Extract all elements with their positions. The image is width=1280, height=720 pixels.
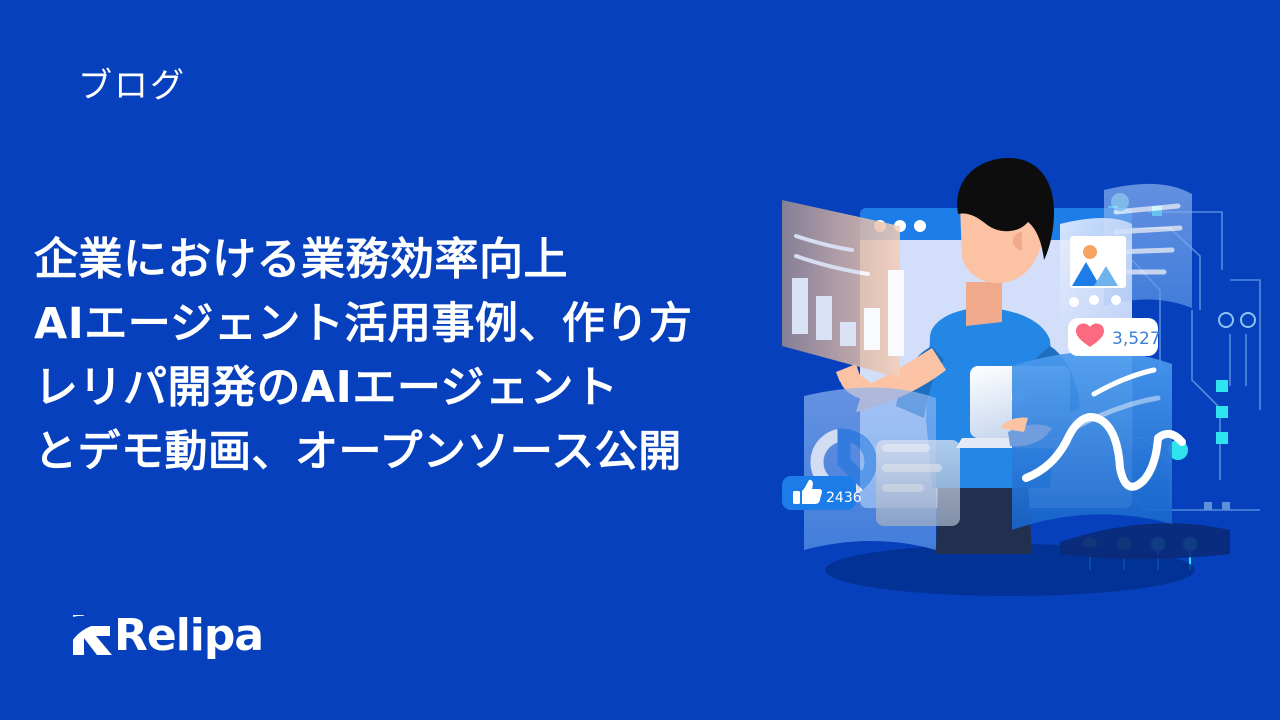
page-title: 企業における業務効率向上 AIエージェント活用事例、作り方 レリパ開発のAIエー… <box>34 228 804 484</box>
browser-dot-3 <box>914 220 926 232</box>
heart-badge-count: 3,527 <box>1112 329 1161 349</box>
floor-shadow-right <box>1060 523 1230 559</box>
relipa-r-mark-icon <box>70 611 116 659</box>
relipa-logo[interactable]: Relipa <box>70 607 263 663</box>
title-line-4: とデモ動画、オープンソース公開 <box>34 420 804 484</box>
heart-badge[interactable]: 3,527 <box>1068 318 1161 356</box>
title-line-3: レリパ開発のAIエージェント <box>34 356 804 420</box>
title-line-1: 企業における業務効率向上 <box>34 228 804 292</box>
title-line-2: AIエージェント活用事例、作り方 <box>34 292 804 356</box>
kicker-label: ブログ <box>78 68 186 105</box>
relipa-wordmark: Relipa <box>114 610 263 661</box>
grey-card <box>876 440 960 526</box>
hero-illustration: 3,527 2436 <box>760 150 1280 600</box>
sun-icon <box>1083 245 1097 259</box>
thumbs-up-badge[interactable]: 2436 <box>782 476 862 510</box>
thumbs-up-badge-count: 2436 <box>826 490 862 506</box>
blog-hero-banner: ブログ 企業における業務効率向上 AIエージェント活用事例、作り方 レリパ開発の… <box>0 0 1280 720</box>
bar-chart-card <box>782 200 904 378</box>
